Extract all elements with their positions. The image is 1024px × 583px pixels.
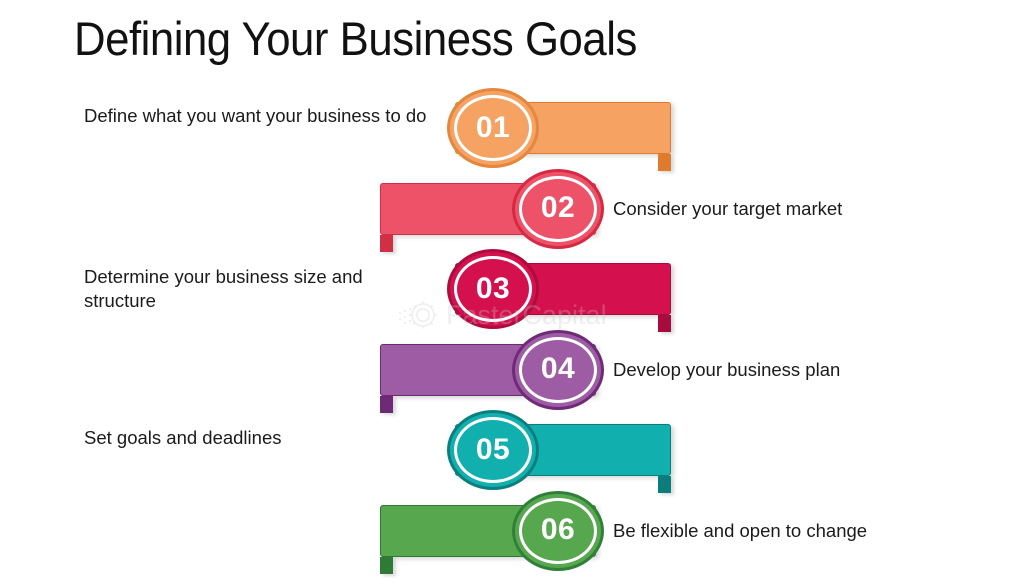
step-number-badge[interactable]: 04 (512, 330, 604, 410)
step-caption: Set goals and deadlines (84, 426, 434, 450)
step-caption: Define what you want your business to do (84, 104, 434, 128)
fold-tab-icon (380, 557, 393, 574)
step-row: 06Be flexible and open to change (0, 491, 1024, 571)
step-row: 01Define what you want your business to … (0, 88, 1024, 168)
step-caption: Consider your target market (613, 197, 1013, 221)
fold-tab-icon (380, 396, 393, 413)
step-number-badge[interactable]: 03 (447, 249, 539, 329)
step-number-label: 02 (512, 169, 604, 249)
fold-tab-icon (658, 315, 671, 332)
step-number-badge[interactable]: 06 (512, 491, 604, 571)
step-number-label: 05 (447, 410, 539, 490)
step-number-label: 06 (512, 491, 604, 571)
step-row: 03Determine your business size and struc… (0, 249, 1024, 329)
step-row: 05Set goals and deadlines (0, 410, 1024, 490)
page-title: Defining Your Business Goals (74, 8, 637, 70)
step-caption: Develop your business plan (613, 358, 1013, 382)
step-row: 04Develop your business plan (0, 330, 1024, 410)
step-number-badge[interactable]: 01 (447, 88, 539, 168)
fold-tab-icon (380, 235, 393, 252)
step-number-label: 04 (512, 330, 604, 410)
step-caption: Determine your business size and structu… (84, 265, 434, 313)
step-number-label: 03 (447, 249, 539, 329)
step-number-badge[interactable]: 02 (512, 169, 604, 249)
step-number-label: 01 (447, 88, 539, 168)
step-number-badge[interactable]: 05 (447, 410, 539, 490)
step-row: 02Consider your target market (0, 169, 1024, 249)
step-caption: Be flexible and open to change (613, 519, 1013, 543)
fold-tab-icon (658, 476, 671, 493)
fold-tab-icon (658, 154, 671, 171)
